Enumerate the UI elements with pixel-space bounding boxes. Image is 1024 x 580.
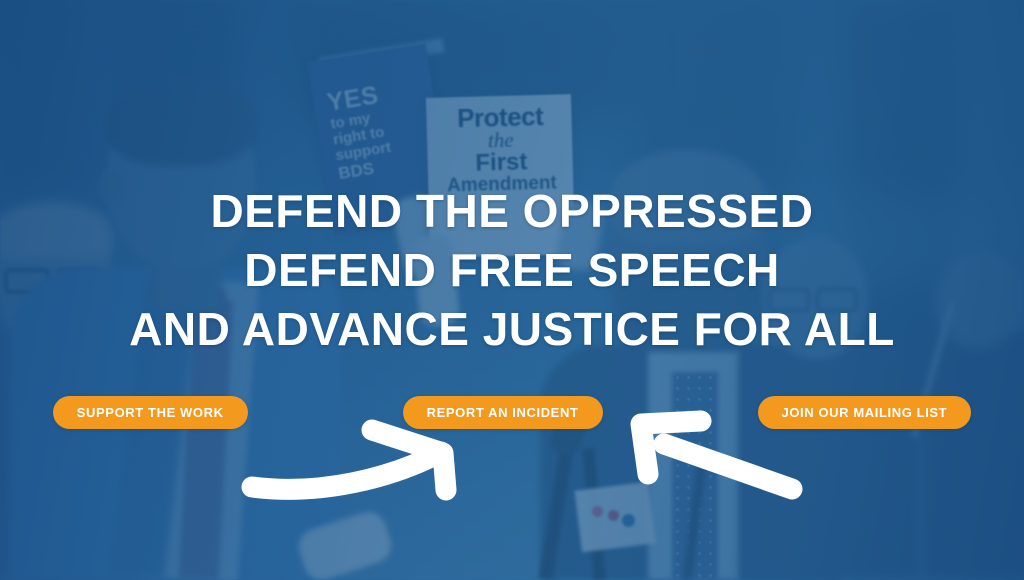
curved-arrow-left-shaft [252,452,441,489]
curved-arrow-left-head [372,430,446,490]
curved-arrow-right-shaft [664,444,792,489]
support-the-work-button[interactable]: SUPPORT THE WORK [53,396,248,429]
cta-button-row: SUPPORT THE WORK REPORT AN INCIDENT JOIN… [0,396,1024,429]
join-our-mailing-list-button[interactable]: JOIN OUR MAILING LIST [758,396,972,429]
headline-line-1: DEFEND THE OPPRESSED [0,182,1024,241]
headline-line-2: DEFEND FREE SPEECH [0,241,1024,300]
hero-content: DEFEND THE OPPRESSED DEFEND FREE SPEECH … [0,0,1024,580]
report-an-incident-button[interactable]: REPORT AN INCIDENT [403,396,603,429]
hero-banner: YES to my right to support BDS Protect t… [0,0,1024,580]
headline-line-3: AND ADVANCE JUSTICE FOR ALL [0,300,1024,359]
page-title: DEFEND THE OPPRESSED DEFEND FREE SPEECH … [0,182,1024,359]
